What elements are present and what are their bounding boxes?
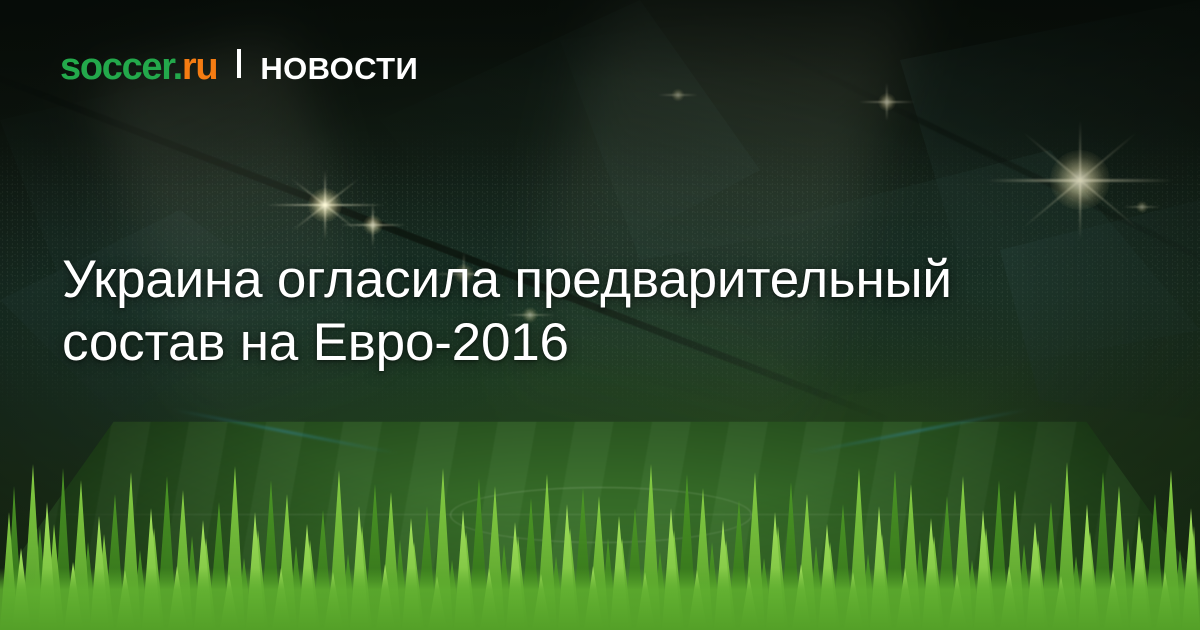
logo-tld-part: ru <box>182 46 217 88</box>
header-dark-overlay <box>0 0 1200 190</box>
section-label: НОВОСТИ <box>260 53 418 84</box>
news-share-card: soccer.ru НОВОСТИ Украина огласила предв… <box>0 0 1200 630</box>
pitch-halfway-line <box>0 514 1200 515</box>
site-header: soccer.ru НОВОСТИ <box>60 48 418 86</box>
article-headline: Украина огласила предварительный состав … <box>62 248 1122 374</box>
floodlight-flare-7 <box>655 72 701 118</box>
site-logo[interactable]: soccer.ru <box>60 48 217 86</box>
header-separator <box>237 49 241 78</box>
logo-name-part: soccer <box>60 46 173 88</box>
stadium-gantry-line-secondary <box>697 10 1200 287</box>
floodlight-flare-6 <box>985 85 1175 275</box>
logo-dot: . <box>173 46 182 88</box>
